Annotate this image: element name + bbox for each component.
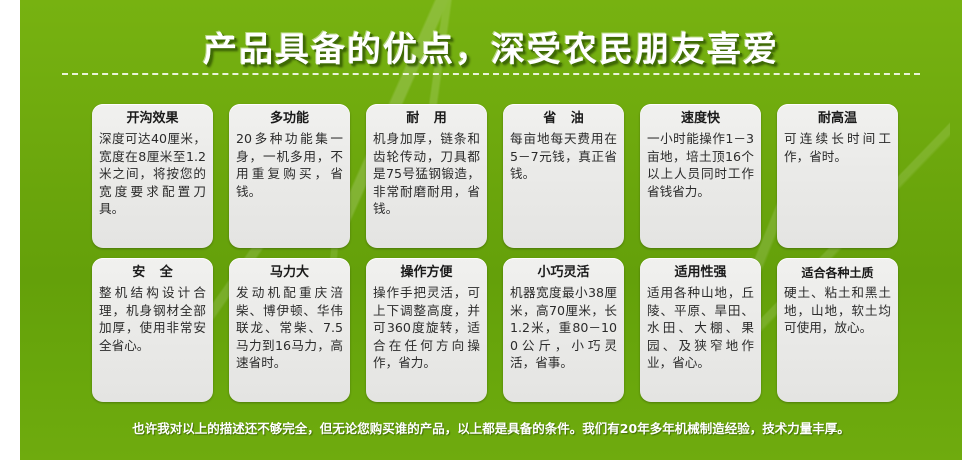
card-title: 操作方便 — [373, 265, 480, 281]
feature-card-shiyongxingqiang: 适用性强 适用各种山地，丘陵、平原、旱田、水田、大棚、果园、及狭窄地作业，省心。 — [640, 258, 761, 402]
card-title: 耐 用 — [373, 111, 480, 127]
promo-banner: 产品具备的优点，深受农民朋友喜爱 开沟效果 深度可达40厘米，宽度在8厘米至1.… — [20, 0, 962, 460]
card-title: 开沟效果 — [99, 111, 206, 127]
feature-card-grid: 开沟效果 深度可达40厘米，宽度在8厘米至1.2米之间，将按您的宽度要求配置刀具… — [92, 104, 898, 402]
card-title: 多功能 — [236, 111, 343, 127]
card-body: 20多种功能集一身，一机多用，不用重复购买，省钱。 — [236, 130, 343, 200]
card-title: 适用性强 — [647, 265, 754, 281]
card-body: 一小时能操作1－3亩地，培土顶16个以上人员同时工作省钱省力。 — [647, 130, 754, 200]
feature-card-sudukuai: 速度快 一小时能操作1－3亩地，培土顶16个以上人员同时工作省钱省力。 — [640, 104, 761, 248]
card-body: 发动机配重庆涪柴、博伊顿、华伟联龙、常柴、7.5马力到16马力，高速省时。 — [236, 284, 343, 372]
card-body: 硬土、粘土和黑土地，山地，软土均可使用，放心。 — [784, 284, 891, 337]
feature-card-shengyou: 省 油 每亩地每天费用在5－7元钱，真正省钱。 — [503, 104, 624, 248]
feature-card-anquan: 安 全 整机结构设计合理，机身钢材全部加厚，使用非常安全省心。 — [92, 258, 213, 402]
card-title: 速度快 — [647, 111, 754, 127]
card-body: 操作手把灵活，可上下调整高度，并可360度旋转，适合在任何方向操作，省力。 — [373, 284, 480, 372]
card-body: 机器宽度最小38厘米，高70厘米，长1.2米，重80－100公斤，小巧灵活，省事… — [510, 284, 617, 372]
feature-card-naiyong: 耐 用 机身加厚，链条和齿轮传动，刀具都是75号猛钢锻造，非常耐磨耐用，省钱。 — [366, 104, 487, 248]
feature-card-duogongneng: 多功能 20多种功能集一身，一机多用，不用重复购买，省钱。 — [229, 104, 350, 248]
feature-card-xiaoqiaolinghuo: 小巧灵活 机器宽度最小38厘米，高70厘米，长1.2米，重80－100公斤，小巧… — [503, 258, 624, 402]
feature-card-shihegezhongtuzhi: 适合各种土质 硬土、粘土和黑土地，山地，软土均可使用，放心。 — [777, 258, 898, 402]
card-body: 可连续长时间工作，省时。 — [784, 130, 891, 165]
card-title: 省 油 — [510, 111, 617, 127]
card-title: 马力大 — [236, 265, 343, 281]
card-title: 适合各种土质 — [784, 265, 891, 281]
feature-card-kaigouxiaoguo: 开沟效果 深度可达40厘米，宽度在8厘米至1.2米之间，将按您的宽度要求配置刀具… — [92, 104, 213, 248]
card-body: 适用各种山地，丘陵、平原、旱田、水田、大棚、果园、及狭窄地作业，省心。 — [647, 284, 754, 372]
banner-footnote: 也许我对以上的描述还不够完全，但无论您购买谁的产品，以上都是具备的条件。我们有2… — [20, 418, 962, 437]
feature-card-caozuofangbian: 操作方便 操作手把灵活，可上下调整高度，并可360度旋转，适合在任何方向操作，省… — [366, 258, 487, 402]
card-title: 耐高温 — [784, 111, 891, 127]
card-title: 安 全 — [99, 265, 206, 281]
card-body: 深度可达40厘米，宽度在8厘米至1.2米之间，将按您的宽度要求配置刀具。 — [99, 130, 206, 218]
card-body: 每亩地每天费用在5－7元钱，真正省钱。 — [510, 130, 617, 183]
banner-headline: 产品具备的优点，深受农民朋友喜爱 — [20, 22, 962, 71]
card-body: 机身加厚，链条和齿轮传动，刀具都是75号猛钢锻造，非常耐磨耐用，省钱。 — [373, 130, 480, 218]
dashed-divider — [62, 73, 920, 75]
card-title: 小巧灵活 — [510, 265, 617, 281]
feature-card-naigaowen: 耐高温 可连续长时间工作，省时。 — [777, 104, 898, 248]
card-body: 整机结构设计合理，机身钢材全部加厚，使用非常安全省心。 — [99, 284, 206, 354]
feature-card-row-1: 开沟效果 深度可达40厘米，宽度在8厘米至1.2米之间，将按您的宽度要求配置刀具… — [92, 104, 898, 248]
feature-card-malida: 马力大 发动机配重庆涪柴、博伊顿、华伟联龙、常柴、7.5马力到16马力，高速省时… — [229, 258, 350, 402]
feature-card-row-2: 安 全 整机结构设计合理，机身钢材全部加厚，使用非常安全省心。 马力大 发动机配… — [92, 258, 898, 402]
